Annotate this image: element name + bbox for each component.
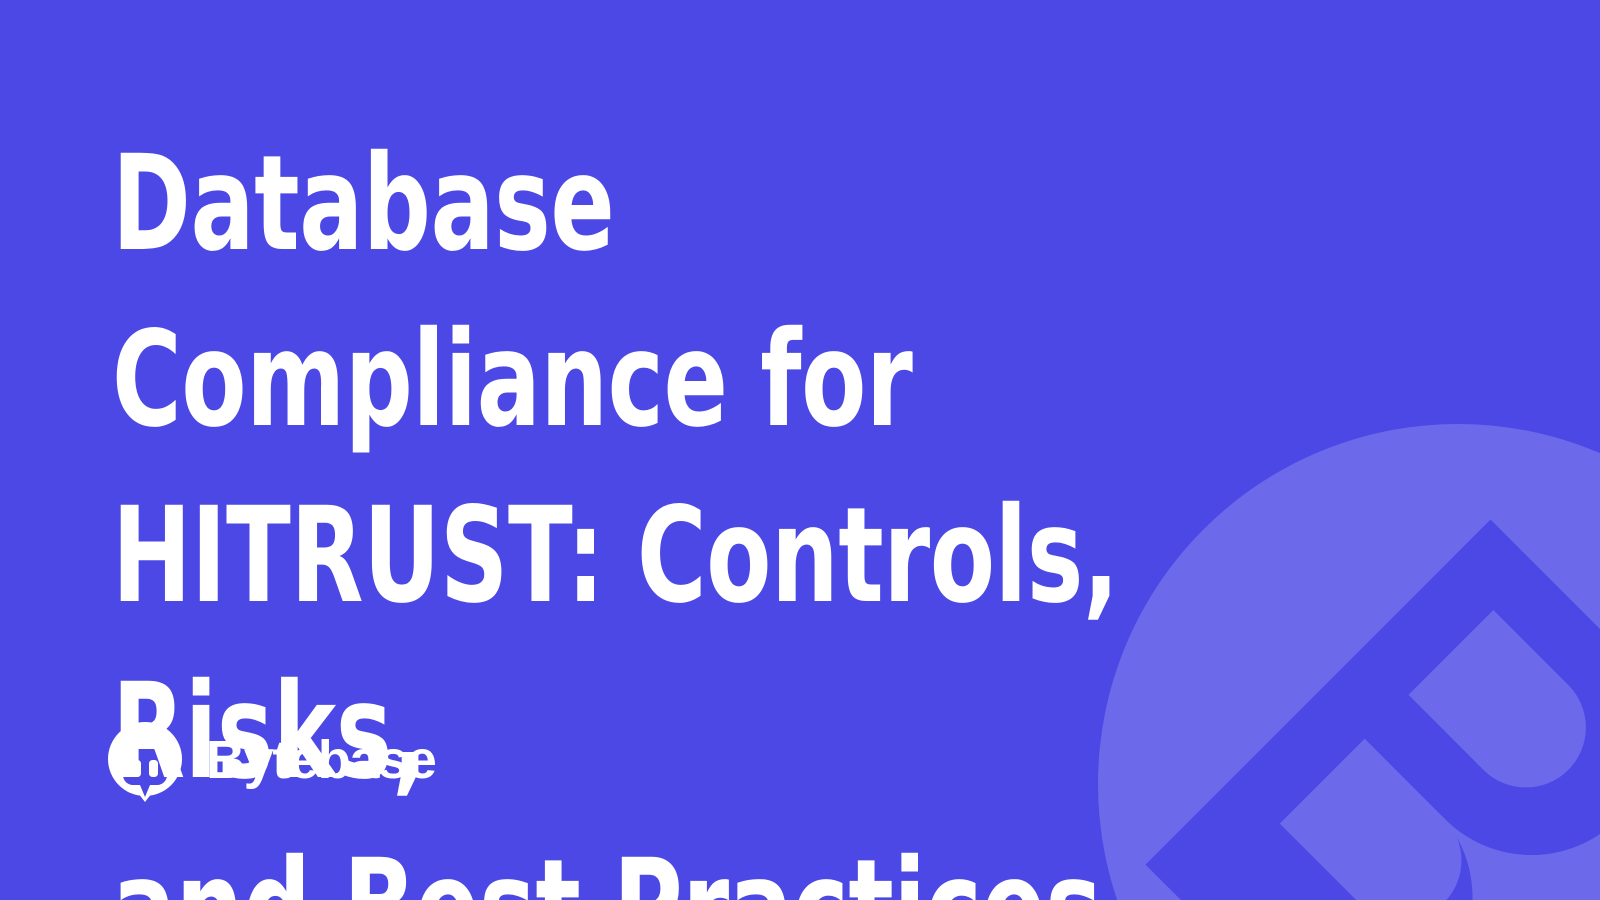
cover-canvas: Database Compliance for HITRUST: Control… — [0, 0, 1600, 900]
wordmark-text: Bytebase — [206, 734, 436, 790]
bytebase-logo-mark-icon — [106, 722, 184, 802]
bytebase-wordmark: Bytebase — [206, 734, 477, 790]
brand-lockup[interactable]: Bytebase — [106, 722, 477, 802]
